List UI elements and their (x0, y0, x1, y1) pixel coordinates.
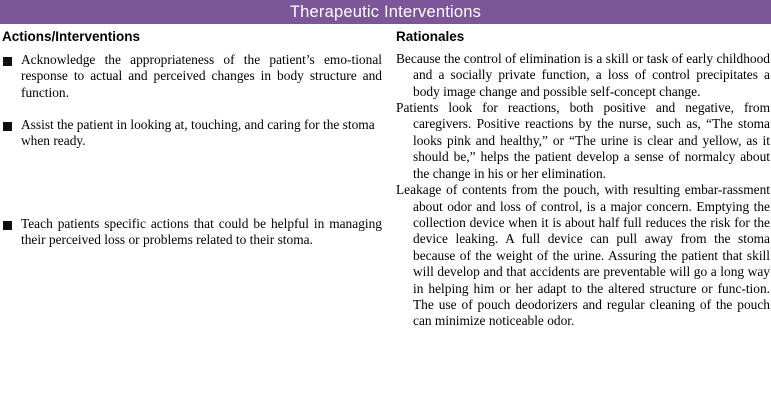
action-item: Teach patients specific actions that cou… (2, 216, 382, 249)
action-item-text: Assist the patient in looking at, touchi… (21, 117, 375, 148)
rationales-column-header: Rationales (396, 30, 770, 45)
square-bullet-icon (3, 122, 12, 131)
action-item: Assist the patient in looking at, touchi… (2, 117, 382, 150)
rationale-item: Because the control of elimination is a … (396, 51, 770, 100)
actions-column-header: Actions/Interventions (2, 30, 382, 45)
rationale-item: Patients look for reactions, both positi… (396, 100, 770, 182)
square-bullet-icon (3, 221, 12, 230)
action-item-text: Teach patients specific actions that cou… (21, 216, 382, 247)
section-title: Therapeutic Interventions (290, 4, 481, 21)
interventions-table: Actions/Interventions Acknowledge the ap… (0, 24, 771, 401)
actions-list: Acknowledge the appropriateness of the p… (2, 52, 382, 249)
action-item: Acknowledge the appropriateness of the p… (2, 52, 382, 101)
square-bullet-icon (3, 57, 12, 66)
rationale-item: Leakage of contents from the pouch, with… (396, 182, 770, 330)
actions-column: Actions/Interventions Acknowledge the ap… (2, 24, 382, 249)
rationales-column: Rationales Because the control of elimin… (396, 24, 770, 330)
section-title-bar: Therapeutic Interventions (0, 0, 771, 24)
action-item-text: Acknowledge the appropriateness of the p… (21, 52, 382, 100)
rationales-list: Because the control of elimination is a … (396, 51, 770, 330)
